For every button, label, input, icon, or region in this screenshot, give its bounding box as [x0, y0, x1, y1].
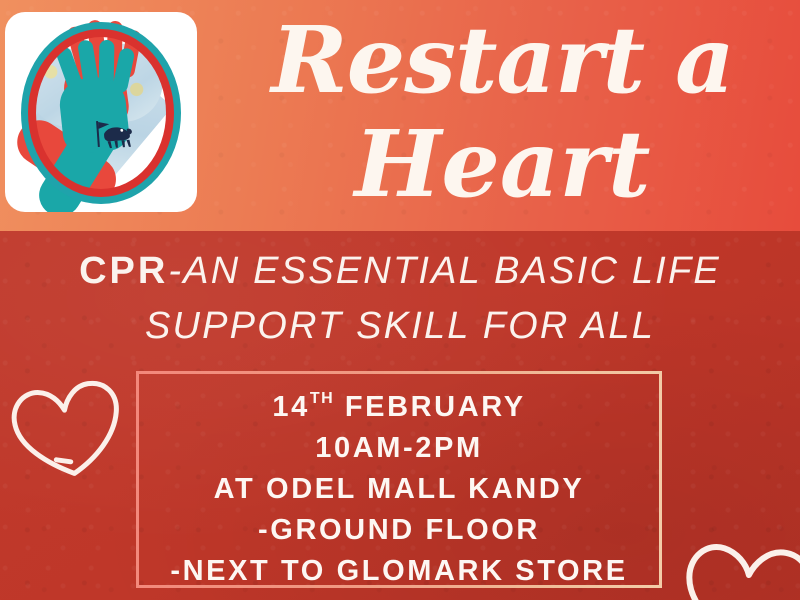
tagline-line-2: SUPPORT SKILL FOR ALL — [0, 299, 800, 354]
title-line-2: Heart — [210, 112, 795, 216]
tagline-line-1: -AN ESSENTIAL BASIC LIFE — [168, 250, 721, 292]
detail-date-day: 14 — [272, 391, 309, 423]
tagline-acronym: CPR — [79, 250, 168, 292]
detail-date: 14TH FEBRUARY — [136, 378, 662, 428]
heart-outline-right-icon — [672, 526, 800, 600]
detail-venue: AT ODEL MALL KANDY — [136, 469, 662, 510]
poster-canvas: Restart a Heart CPR-AN ESSENTIAL BASIC L… — [0, 0, 800, 600]
detail-time: 10AM-2PM — [136, 428, 662, 469]
detail-date-ordinal: TH — [310, 390, 334, 407]
title-line-1: Restart a — [210, 4, 795, 112]
red-ring — [28, 29, 174, 197]
heart-outline-left-icon — [1, 366, 133, 489]
tagline: CPR-AN ESSENTIAL BASIC LIFE SUPPORT SKIL… — [0, 244, 800, 354]
detail-date-month: FEBRUARY — [345, 391, 526, 423]
event-details-text: 14TH FEBRUARY 10AM-2PM AT ODEL MALL KAND… — [136, 378, 662, 592]
detail-floor: -GROUND FLOOR — [136, 510, 662, 551]
logo-artwork — [5, 12, 197, 212]
restart-a-heart-logo — [5, 12, 197, 212]
detail-landmark: -NEXT TO GLOMARK STORE — [136, 551, 662, 592]
poster-title: Restart a Heart — [210, 4, 795, 226]
